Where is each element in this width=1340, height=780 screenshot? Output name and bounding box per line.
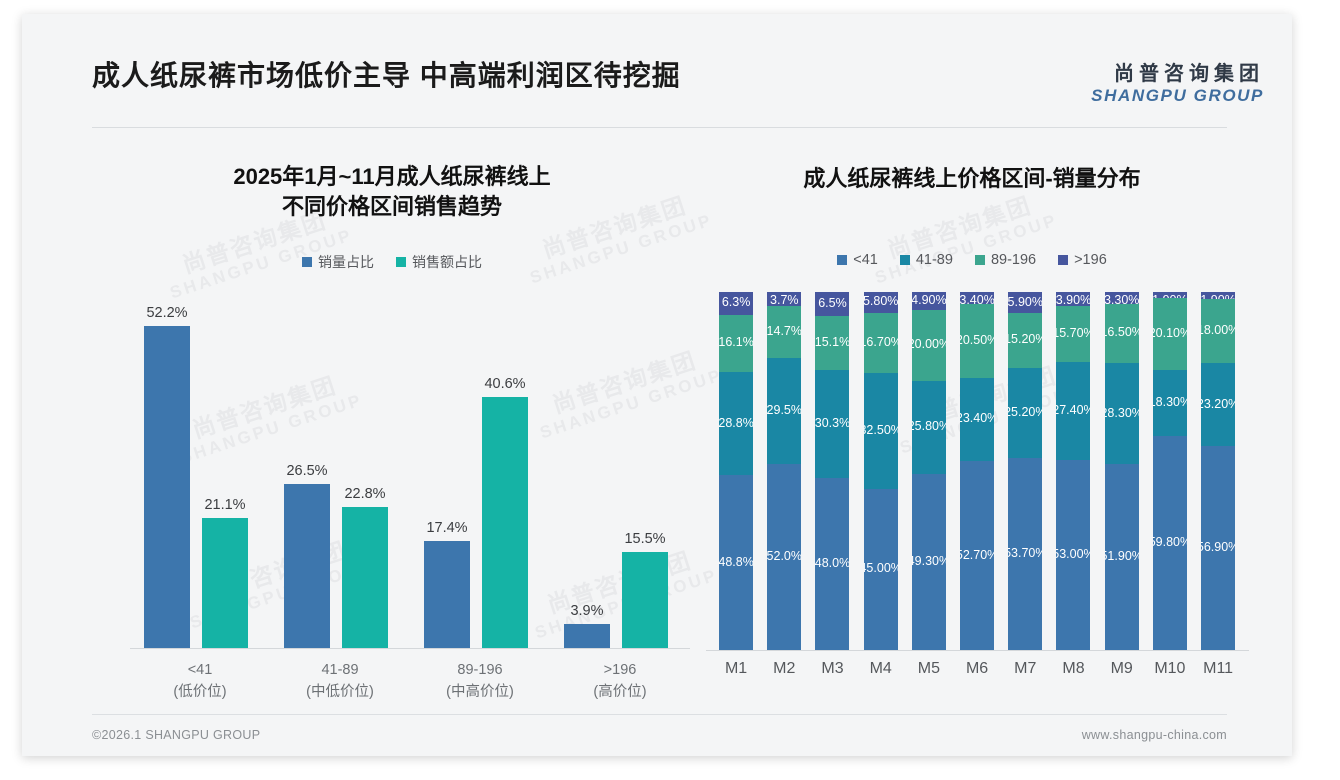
- month-label: M5: [905, 660, 953, 678]
- footer-divider: [92, 714, 1227, 715]
- month-label: M2: [760, 660, 808, 678]
- segment-value-label: 14.7%: [767, 324, 801, 338]
- stacked-bar-segment[interactable]: 6.5%: [815, 292, 849, 315]
- segment-value-label: 27.40%: [1056, 403, 1090, 417]
- bar[interactable]: 22.8%: [342, 507, 388, 648]
- stacked-bar-segment[interactable]: 25.20%: [1008, 368, 1042, 458]
- month-label: M10: [1146, 660, 1194, 678]
- category-label-range: 41-89: [270, 659, 410, 681]
- category-label-range: <41: [130, 659, 270, 681]
- stacked-bar-segment[interactable]: 52.70%: [960, 461, 994, 650]
- segment-value-label: 52.70%: [960, 548, 994, 562]
- stacked-bar-segment[interactable]: 29.5%: [767, 358, 801, 464]
- segment-value-label: 3.30%: [1105, 293, 1139, 304]
- bar-fill: [202, 518, 248, 648]
- month-label: M11: [1194, 660, 1242, 678]
- legend-label: 89-196: [991, 252, 1036, 268]
- segment-value-label: 29.5%: [767, 403, 801, 417]
- stacked-bar-segment[interactable]: 59.80%: [1153, 436, 1187, 650]
- left-grouped-bar-chart: 52.2%21.1%26.5%22.8%17.4%40.6%3.9%15.5%: [130, 296, 690, 648]
- category-label-range: >196: [550, 659, 690, 681]
- legend-label: <41: [853, 252, 878, 268]
- segment-value-label: 52.0%: [767, 549, 801, 563]
- stacked-bar[interactable]: 53.70%25.20%15.20%5.90%: [1001, 292, 1049, 650]
- stacked-bar-segment[interactable]: 5.80%: [864, 292, 898, 313]
- stacked-bar-segment[interactable]: 48.0%: [815, 478, 849, 650]
- legend-item-41-89[interactable]: 41-89: [900, 252, 953, 268]
- stacked-bar-segment[interactable]: 53.00%: [1056, 460, 1090, 650]
- stacked-bar-segment[interactable]: 32.50%: [864, 373, 898, 489]
- bar-value-label: 15.5%: [600, 531, 690, 547]
- legend-item-sales-volume[interactable]: 销量占比: [302, 252, 374, 272]
- category-label-tier: (中高价位): [410, 681, 550, 703]
- left-chart-axis-line: [130, 648, 690, 649]
- segment-value-label: 28.8%: [719, 416, 753, 430]
- bar-group: 26.5%22.8%: [270, 296, 410, 648]
- stacked-bar-segment[interactable]: 28.8%: [719, 372, 753, 475]
- legend-item-under41[interactable]: <41: [837, 252, 878, 268]
- segment-value-label: 48.0%: [815, 556, 849, 570]
- month-label: M8: [1049, 660, 1097, 678]
- bar-group: 3.9%15.5%: [550, 296, 690, 648]
- segment-value-label: 15.70%: [1056, 326, 1090, 340]
- segment-value-label: 32.50%: [864, 423, 898, 437]
- stacked-bar-segment[interactable]: 1.90%: [1201, 292, 1235, 299]
- stacked-bar[interactable]: 51.90%28.30%16.50%3.30%: [1098, 292, 1146, 650]
- stacked-bar[interactable]: 52.0%29.5%14.7%3.7%: [760, 292, 808, 650]
- category-label-tier: (中低价位): [270, 681, 410, 703]
- segment-value-label: 20.50%: [960, 333, 994, 347]
- segment-value-label: 28.30%: [1105, 406, 1139, 420]
- stacked-bar-segment[interactable]: 23.20%: [1201, 363, 1235, 446]
- bar-value-label: 22.8%: [320, 486, 410, 502]
- legend-label: 销售额占比: [412, 252, 482, 272]
- segment-value-label: 18.00%: [1201, 323, 1235, 337]
- stacked-bar-segment[interactable]: 15.70%: [1056, 306, 1090, 362]
- slide-header: 成人纸尿裤市场低价主导 中高端利润区待挖掘 尚普咨询集团 SHANGPU GRO…: [22, 14, 1292, 110]
- category-label-range: 89-196: [410, 659, 550, 681]
- stacked-bar-segment[interactable]: 48.8%: [719, 475, 753, 650]
- stacked-bar-segment[interactable]: 5.90%: [1008, 292, 1042, 313]
- legend-label: >196: [1074, 252, 1107, 268]
- stacked-bar[interactable]: 49.30%25.80%20.00%4.90%: [905, 292, 953, 650]
- segment-value-label: 16.70%: [864, 335, 898, 349]
- stacked-bar-segment[interactable]: 4.90%: [912, 292, 946, 310]
- stacked-bar-segment[interactable]: 3.7%: [767, 292, 801, 305]
- right-chart-title: 成人纸尿裤线上价格区间-销量分布: [692, 164, 1252, 194]
- segment-value-label: 25.80%: [912, 419, 946, 433]
- bar[interactable]: 17.4%: [424, 541, 470, 648]
- logo-cn-text: 尚普咨询集团: [1091, 62, 1264, 86]
- bar[interactable]: 15.5%: [622, 552, 668, 648]
- stacked-bar-segment[interactable]: 52.0%: [767, 464, 801, 650]
- segment-value-label: 45.00%: [864, 561, 898, 575]
- month-label: M9: [1098, 660, 1146, 678]
- stacked-bar-segment[interactable]: 18.30%: [1153, 370, 1187, 436]
- segment-value-label: 53.00%: [1056, 547, 1090, 561]
- segment-value-label: 20.00%: [912, 337, 946, 351]
- left-chart-title-line2: 不同价格区间销售趋势: [102, 192, 682, 222]
- left-chart-legend: 销量占比 销售额占比: [102, 252, 682, 272]
- bar-value-label: 3.9%: [542, 603, 632, 619]
- bar-fill: [622, 552, 668, 648]
- segment-value-label: 4.90%: [912, 293, 946, 307]
- brand-logo: 尚普咨询集团 SHANGPU GROUP: [1091, 62, 1264, 106]
- segment-value-label: 23.20%: [1201, 397, 1235, 411]
- segment-value-label: 59.80%: [1153, 535, 1187, 549]
- segment-value-label: 15.20%: [1008, 332, 1042, 346]
- category-label: >196(高价位): [550, 659, 690, 704]
- watermark: 尚普咨询集团 SHANGPU GROUP: [865, 186, 1061, 289]
- segment-value-label: 1.90%: [1153, 293, 1187, 299]
- category-label: 41-89(中低价位): [270, 659, 410, 704]
- stacked-bar[interactable]: 56.90%23.20%18.00%1.90%: [1194, 292, 1242, 650]
- month-label: M4: [857, 660, 905, 678]
- bar[interactable]: 3.9%: [564, 624, 610, 648]
- bar[interactable]: 52.2%: [144, 326, 190, 648]
- segment-value-label: 5.80%: [864, 294, 898, 308]
- category-label: <41(低价位): [130, 659, 270, 704]
- stacked-bar-segment[interactable]: 16.1%: [719, 315, 753, 373]
- bar[interactable]: 21.1%: [202, 518, 248, 648]
- stacked-bar[interactable]: 59.80%18.30%20.10%1.90%: [1146, 292, 1194, 650]
- stacked-bar[interactable]: 52.70%23.40%20.50%3.40%: [953, 292, 1001, 650]
- bar-group: 17.4%40.6%: [410, 296, 550, 648]
- legend-item-over196[interactable]: >196: [1058, 252, 1107, 268]
- segment-value-label: 15.1%: [815, 335, 849, 349]
- stacked-bar-segment[interactable]: 18.00%: [1201, 299, 1235, 363]
- stacked-bar-segment[interactable]: 45.00%: [864, 489, 898, 650]
- bar-group: 52.2%21.1%: [130, 296, 270, 648]
- stacked-bar-segment[interactable]: 56.90%: [1201, 446, 1235, 650]
- segment-value-label: 16.50%: [1105, 325, 1139, 339]
- stacked-bar[interactable]: 53.00%27.40%15.70%3.90%: [1049, 292, 1097, 650]
- legend-swatch-icon: [1058, 255, 1068, 265]
- legend-swatch-icon: [900, 255, 910, 265]
- stacked-bar-segment[interactable]: 30.3%: [815, 370, 849, 478]
- stacked-bar-segment[interactable]: 27.40%: [1056, 362, 1090, 460]
- left-chart-title-line1: 2025年1月~11月成人纸尿裤线上: [102, 162, 682, 192]
- right-chart-axis-line: [706, 650, 1249, 651]
- bar[interactable]: 26.5%: [284, 484, 330, 648]
- category-label: 89-196(中高价位): [410, 659, 550, 704]
- segment-value-label: 6.5%: [818, 296, 847, 310]
- right-stacked-bar-chart: 48.8%28.8%16.1%6.3%52.0%29.5%14.7%3.7%48…: [712, 292, 1242, 650]
- stacked-bar-segment[interactable]: 23.40%: [960, 378, 994, 462]
- stacked-bar-segment[interactable]: 16.50%: [1105, 304, 1139, 363]
- segment-value-label: 53.70%: [1008, 546, 1042, 560]
- right-chart-legend: <41 41-89 89-196 >196: [692, 252, 1252, 268]
- stacked-bar-segment[interactable]: 14.7%: [767, 306, 801, 359]
- stacked-bar-segment[interactable]: 20.00%: [912, 310, 946, 382]
- segment-value-label: 3.40%: [960, 293, 994, 304]
- legend-swatch-icon: [975, 255, 985, 265]
- segment-value-label: 16.1%: [719, 335, 753, 349]
- bar-fill: [564, 624, 610, 648]
- header-divider: [92, 127, 1227, 128]
- segment-value-label: 56.90%: [1201, 540, 1235, 554]
- stacked-bar[interactable]: 45.00%32.50%16.70%5.80%: [857, 292, 905, 650]
- legend-label: 41-89: [916, 252, 953, 268]
- bar-value-label: 21.1%: [180, 497, 270, 513]
- legend-swatch-icon: [396, 257, 406, 267]
- stacked-bar-segment[interactable]: 20.50%: [960, 304, 994, 377]
- stacked-bar-segment[interactable]: 51.90%: [1105, 464, 1139, 650]
- stacked-bar-segment[interactable]: 1.90%: [1153, 292, 1187, 299]
- left-chart-title: 2025年1月~11月成人纸尿裤线上 不同价格区间销售趋势: [102, 162, 682, 221]
- bar-value-label: 26.5%: [262, 463, 352, 479]
- stacked-bar-segment[interactable]: 6.3%: [719, 292, 753, 315]
- segment-value-label: 30.3%: [815, 416, 849, 430]
- month-label: M1: [712, 660, 760, 678]
- stacked-bar[interactable]: 48.0%30.3%15.1%6.5%: [808, 292, 856, 650]
- footer-website: www.shangpu-china.com: [1082, 728, 1227, 742]
- stacked-bar-segment[interactable]: 16.70%: [864, 313, 898, 373]
- segment-value-label: 3.90%: [1056, 293, 1090, 306]
- stacked-bar-segment[interactable]: 15.1%: [815, 316, 849, 370]
- legend-swatch-icon: [302, 257, 312, 267]
- bar-fill: [342, 507, 388, 648]
- stacked-bar-segment[interactable]: 15.20%: [1008, 313, 1042, 367]
- category-label-tier: (低价位): [130, 681, 270, 703]
- watermark-en-text: SHANGPU GROUP: [528, 211, 716, 289]
- bar-fill: [482, 397, 528, 648]
- segment-value-label: 1.90%: [1201, 293, 1235, 299]
- legend-swatch-icon: [837, 255, 847, 265]
- bar-value-label: 17.4%: [402, 520, 492, 536]
- month-label: M6: [953, 660, 1001, 678]
- bar[interactable]: 40.6%: [482, 397, 528, 648]
- stacked-bar-segment[interactable]: 3.90%: [1056, 292, 1090, 306]
- stacked-bar-segment[interactable]: 20.10%: [1153, 298, 1187, 370]
- stacked-bar-segment[interactable]: 3.30%: [1105, 292, 1139, 304]
- segment-value-label: 48.8%: [719, 555, 753, 569]
- bar-value-label: 52.2%: [122, 305, 212, 321]
- footer-copyright: ©2026.1 SHANGPU GROUP: [92, 728, 260, 742]
- segment-value-label: 49.30%: [912, 554, 946, 568]
- stacked-bar-segment[interactable]: 49.30%: [912, 474, 946, 650]
- legend-item-89-196[interactable]: 89-196: [975, 252, 1036, 268]
- page-title: 成人纸尿裤市场低价主导 中高端利润区待挖掘: [92, 54, 681, 94]
- bar-value-label: 40.6%: [460, 376, 550, 392]
- legend-item-sales-value[interactable]: 销售额占比: [396, 252, 482, 272]
- segment-value-label: 5.90%: [1008, 295, 1042, 309]
- month-label: M3: [808, 660, 856, 678]
- segment-value-label: 23.40%: [960, 411, 994, 425]
- month-label: M7: [1001, 660, 1049, 678]
- legend-label: 销量占比: [318, 252, 374, 272]
- stacked-bar-segment[interactable]: 28.30%: [1105, 363, 1139, 464]
- segment-value-label: 20.10%: [1153, 326, 1187, 340]
- bar-fill: [284, 484, 330, 648]
- segment-value-label: 6.3%: [722, 295, 751, 309]
- category-label-tier: (高价位): [550, 681, 690, 703]
- stacked-bar-segment[interactable]: 25.80%: [912, 381, 946, 473]
- bar-fill: [144, 326, 190, 648]
- stacked-bar-segment[interactable]: 3.40%: [960, 292, 994, 304]
- bar-fill: [424, 541, 470, 648]
- stacked-bar[interactable]: 48.8%28.8%16.1%6.3%: [712, 292, 760, 650]
- watermark-en-text: SHANGPU GROUP: [873, 211, 1061, 289]
- segment-value-label: 51.90%: [1105, 549, 1139, 563]
- logo-en-text: SHANGPU GROUP: [1091, 86, 1264, 106]
- segment-value-label: 25.20%: [1008, 405, 1042, 419]
- slide-canvas: 尚普咨询集团 SHANGPU GROUP 尚普咨询集团 SHANGPU GROU…: [22, 14, 1292, 756]
- stacked-bar-segment[interactable]: 53.70%: [1008, 458, 1042, 650]
- segment-value-label: 18.30%: [1153, 395, 1187, 409]
- segment-value-label: 3.7%: [770, 293, 799, 305]
